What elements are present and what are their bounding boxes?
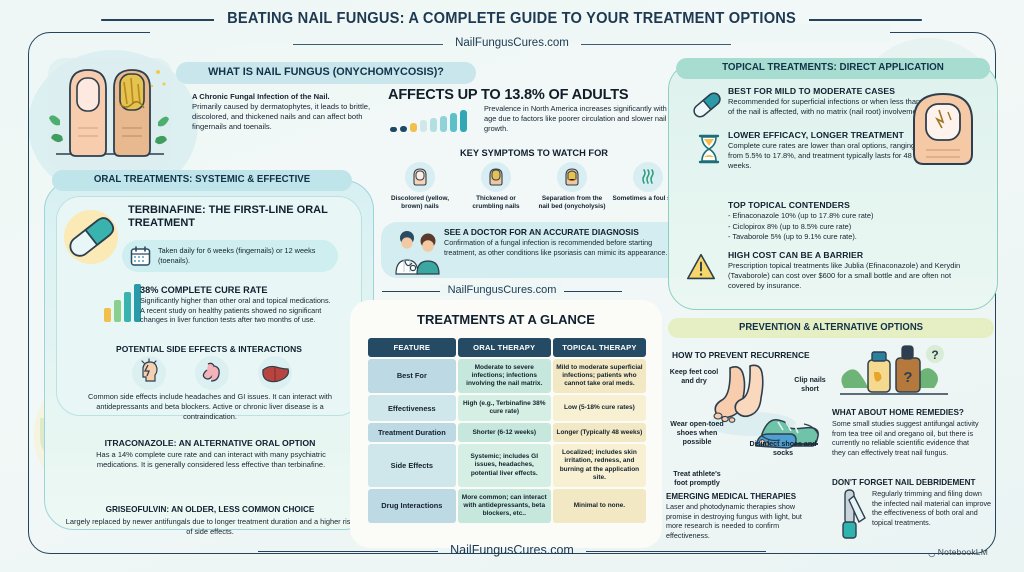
th-topical: TOPICAL THERAPY bbox=[553, 338, 646, 357]
warning-icon bbox=[686, 252, 716, 282]
table-title: TREATMENTS AT A GLANCE bbox=[350, 312, 662, 327]
symptoms-list: Discolored (yellow, brown) nails Thicken… bbox=[384, 162, 684, 211]
table-row: Side Effects Systemic; includes GI issue… bbox=[368, 444, 646, 486]
prevention-heading: PREVENTION & ALTERNATIVE OPTIONS bbox=[676, 322, 986, 333]
stomach-icon bbox=[195, 356, 229, 390]
cell-oral: More common; can interact with antidepre… bbox=[458, 489, 551, 523]
symptom-item: Discolored (yellow, brown) nails bbox=[384, 162, 456, 211]
prevention-tip: Keep feet cool and dry bbox=[668, 368, 720, 386]
cell-oral: High (e.g., Terbinafine 38% cure rate) bbox=[458, 395, 551, 421]
th-oral: ORAL THERAPY bbox=[458, 338, 551, 357]
cure-rate-body: Significantly higher than other oral and… bbox=[140, 296, 336, 325]
table-row: Treatment Duration Shorter (6-12 weeks) … bbox=[368, 423, 646, 442]
cell-feature: Treatment Duration bbox=[368, 423, 456, 442]
prevention-tip: Wear open-toed shoes when possible bbox=[666, 420, 728, 447]
contender-item: - Tavaborole 5% (up to 9.1% cure rate). bbox=[728, 232, 948, 243]
schedule-text: Taken daily for 6 weeks (fingernails) or… bbox=[158, 246, 334, 265]
affects-stat-title: AFFECTS UP TO 13.8% OF ADULTS bbox=[388, 86, 628, 103]
what-is-lead: A Chronic Fungal Infection of the Nail. bbox=[192, 92, 392, 102]
side-effects-title: POTENTIAL SIDE EFFECTS & INTERACTIONS bbox=[64, 344, 354, 354]
oral-heading: ORAL TREATMENTS: SYSTEMIC & EFFECTIVE bbox=[60, 174, 345, 185]
see-doctor-title: SEE A DOCTOR FOR AN ACCURATE DIAGNOSIS bbox=[444, 227, 680, 237]
see-doctor-body: Confirmation of a fungal infection is re… bbox=[444, 238, 680, 257]
infographic-poster: BEATING NAIL FUNGUS: A COMPLETE GUIDE TO… bbox=[0, 0, 1024, 572]
cell-feature: Effectiveness bbox=[368, 395, 456, 421]
prevention-tip: Treat athlete's foot promptly bbox=[666, 470, 728, 488]
symptom-label: Separation from the nail bed (onycholysi… bbox=[536, 195, 608, 211]
svg-text:?: ? bbox=[903, 369, 912, 386]
cost-body: Prescription topical treatments like Jub… bbox=[728, 261, 978, 291]
debridement-title: DON'T FORGET NAIL DEBRIDEMENT bbox=[832, 478, 975, 487]
contender-item: - Efinaconazole 10% (up to 17.8% cure ra… bbox=[728, 211, 948, 222]
symptom-label: Thickened or crumbling nails bbox=[460, 195, 532, 211]
emerging-therapies-title: EMERGING MEDICAL THERAPIES bbox=[666, 492, 796, 501]
prevent-recurrence-title: HOW TO PREVENT RECURRENCE bbox=[672, 350, 810, 360]
headache-icon bbox=[132, 356, 166, 390]
prevalence-bar-chart bbox=[390, 110, 467, 132]
doctors-illustration bbox=[390, 228, 446, 276]
debridement-body: Regularly trimming and filing down the i… bbox=[872, 489, 992, 527]
cost-title: HIGH COST CAN BE A BARRIER bbox=[728, 250, 978, 260]
itraconazole-title: ITRACONAZOLE: AN ALTERNATIVE ORAL OPTION bbox=[60, 438, 360, 448]
brand-subtitle-text: NailFungusCures.com bbox=[443, 37, 581, 49]
cell-topical: Low (5-18% cure rates) bbox=[553, 395, 646, 421]
brand-mid: NailFungusCures.com bbox=[352, 280, 652, 298]
home-remedies-title: WHAT ABOUT HOME REMEDIES? bbox=[832, 408, 964, 417]
cell-topical: Minimal to none. bbox=[553, 489, 646, 523]
cell-feature: Best For bbox=[368, 359, 456, 393]
calendar-icon bbox=[130, 246, 151, 266]
table-row: Best For Moderate to severe infections; … bbox=[368, 359, 646, 393]
page-title-text: BEATING NAIL FUNGUS: A COMPLETE GUIDE TO… bbox=[214, 10, 809, 28]
griseofulvin-body: Largely replaced by newer antifungals du… bbox=[62, 517, 358, 537]
topical-item-2-title: LOWER EFFICACY, LONGER TREATMENT bbox=[728, 130, 928, 140]
table-header-row: FEATURE ORAL THERAPY TOPICAL THERAPY bbox=[368, 338, 646, 357]
th-feature: FEATURE bbox=[368, 338, 456, 357]
topical-item-2-body: Complete cure rates are lower than oral … bbox=[728, 141, 928, 171]
cell-topical: Localized; includes skin irritation, red… bbox=[553, 444, 646, 486]
foul-smell-icon bbox=[633, 162, 663, 192]
thickened-nail-icon bbox=[481, 162, 511, 192]
contenders-list: - Efinaconazole 10% (up to 17.8% cure ra… bbox=[728, 211, 948, 243]
contenders-title: TOP TOPICAL CONTENDERS bbox=[728, 200, 943, 210]
symptom-item: Separation from the nail bed (onycholysi… bbox=[536, 162, 608, 211]
nail-clipper-icon bbox=[834, 488, 868, 540]
affects-stat-body: Prevalence in North America increases si… bbox=[484, 104, 674, 134]
topical-cost-item: HIGH COST CAN BE A BARRIER Prescription … bbox=[728, 250, 978, 291]
notebooklm-watermark: ◡NotebookLM bbox=[928, 547, 988, 558]
symptom-label: Discolored (yellow, brown) nails bbox=[384, 195, 456, 211]
cell-oral: Shorter (6-12 weeks) bbox=[458, 423, 551, 442]
see-doctor-text: SEE A DOCTOR FOR AN ACCURATE DIAGNOSIS C… bbox=[444, 227, 680, 257]
cell-feature: Drug Interactions bbox=[368, 489, 456, 523]
essential-oil-bottles-illustration: ? ? bbox=[838, 344, 950, 406]
side-effects-body: Common side effects include headaches an… bbox=[70, 392, 350, 422]
table-row: Effectiveness High (e.g., Terbinafine 38… bbox=[368, 395, 646, 421]
itraconazole-body: Has a 14% complete cure rate and can int… bbox=[82, 450, 340, 470]
brand-footer: NailFungusCures.com bbox=[0, 541, 1024, 559]
svg-text:?: ? bbox=[931, 348, 938, 362]
symptoms-title: KEY SYMPTOMS TO WATCH FOR bbox=[390, 148, 678, 158]
cell-topical: Mild to moderate superficial infections;… bbox=[553, 359, 646, 393]
brand-mid-text: NailFungusCures.com bbox=[440, 284, 565, 296]
what-is-description: Primarily caused by dermatophytes, it le… bbox=[192, 102, 392, 132]
toes-illustration bbox=[46, 58, 174, 183]
topical-item-2: LOWER EFFICACY, LONGER TREATMENT Complet… bbox=[728, 130, 928, 171]
side-effect-icons bbox=[132, 356, 292, 390]
prevention-tip: Disinfect shoes and socks bbox=[748, 440, 818, 458]
cell-feature: Side Effects bbox=[368, 444, 456, 486]
terbinafine-title: TERBINAFINE: THE FIRST-LINE ORAL TREATME… bbox=[128, 204, 328, 230]
cure-rate-title: 38% COMPLETE CURE RATE bbox=[140, 285, 267, 295]
symptom-item: Thickened or crumbling nails bbox=[460, 162, 532, 211]
capsule-icon bbox=[690, 88, 724, 122]
page-title: BEATING NAIL FUNGUS: A COMPLETE GUIDE TO… bbox=[0, 10, 1024, 28]
prevention-tip: Clip nails short bbox=[786, 376, 834, 394]
home-remedies-body: Some small studies suggest antifungal ac… bbox=[832, 419, 984, 457]
topical-heading: TOPICAL TREATMENTS: DIRECT APPLICATION bbox=[684, 62, 982, 73]
infected-nail-illustration bbox=[906, 84, 980, 172]
griseofulvin-title: GRISEOFULVIN: AN OLDER, LESS COMMON CHOI… bbox=[58, 505, 362, 514]
discolored-nail-icon bbox=[405, 162, 435, 192]
comparison-table: FEATURE ORAL THERAPY TOPICAL THERAPY Bes… bbox=[366, 336, 648, 525]
what-is-heading: WHAT IS NAIL FUNGUS (ONYCHOMYCOSIS)? bbox=[184, 66, 469, 78]
notebooklm-glyph: ◡ bbox=[928, 548, 936, 559]
cell-oral: Moderate to severe infections; infection… bbox=[458, 359, 551, 393]
emerging-therapies-body: Laser and photodynamic therapies show pr… bbox=[666, 502, 816, 540]
notebooklm-label: NotebookLM bbox=[938, 547, 988, 557]
brand-subtitle: NailFungusCures.com bbox=[0, 33, 1024, 51]
what-is-body: A Chronic Fungal Infection of the Nail. … bbox=[192, 92, 392, 132]
table-row: Drug Interactions More common; can inter… bbox=[368, 489, 646, 523]
capsule-illustration bbox=[58, 205, 124, 271]
brand-footer-text: NailFungusCures.com bbox=[438, 543, 586, 557]
contender-item: - Ciclopirox 8% (up to 8.5% cure rate) bbox=[728, 222, 948, 233]
cure-rate-bar-chart bbox=[104, 284, 141, 322]
liver-icon bbox=[258, 356, 292, 390]
onycholysis-nail-icon bbox=[557, 162, 587, 192]
hourglass-icon bbox=[692, 132, 726, 166]
cell-oral: Systemic; includes GI issues, headaches,… bbox=[458, 444, 551, 486]
cell-topical: Longer (Typically 48 weeks) bbox=[553, 423, 646, 442]
